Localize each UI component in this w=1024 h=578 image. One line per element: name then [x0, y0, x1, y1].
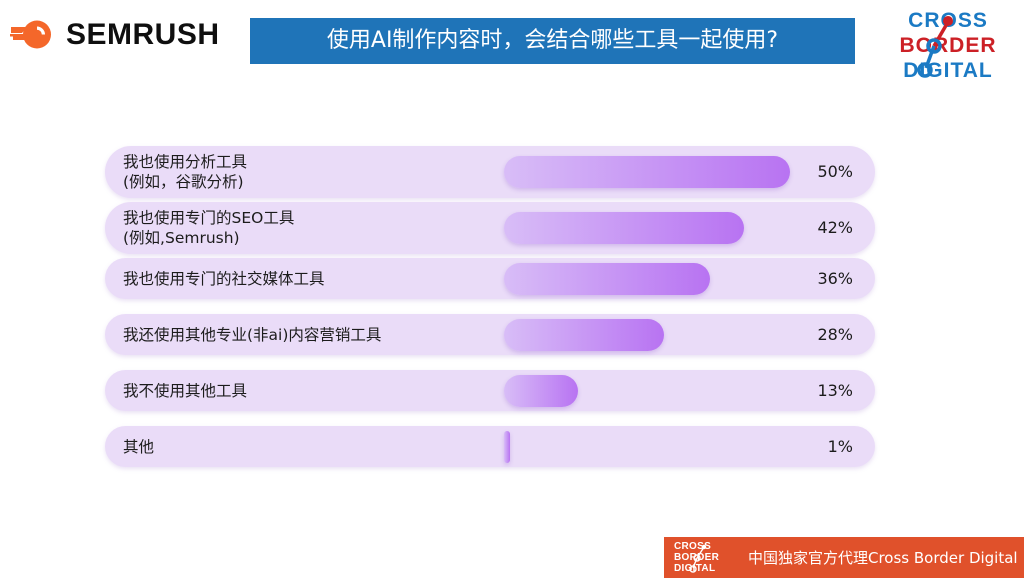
semrush-logo: SEMRUSH	[10, 18, 220, 52]
chart-row-value: 28%	[817, 327, 853, 343]
chart-row-value: 13%	[817, 383, 853, 399]
bar-fill	[504, 212, 744, 244]
footer-cbd-logo: CROSS BORDER DIGITAL	[674, 541, 736, 575]
chart-row: 我不使用其他工具13%	[105, 370, 875, 411]
chart-row-label: 我不使用其他工具	[123, 381, 247, 401]
chart-row-label: 我也使用专门的SEO工具 (例如,Semrush)	[123, 208, 294, 248]
page-header: SEMRUSH 使用AI制作内容时，会结合哪些工具一起使用? CROSS BOR…	[0, 0, 1024, 100]
cross-border-digital-logo: CROSS BORDER DIGITAL	[888, 8, 1008, 90]
footer-logo-connector-icon	[674, 541, 736, 575]
bar-fill	[504, 375, 578, 407]
bar-fill	[504, 319, 664, 351]
bar-fill	[504, 156, 790, 188]
chart-row-value: 42%	[817, 220, 853, 236]
bar-track	[504, 319, 790, 351]
chart-row-value: 1%	[828, 439, 853, 455]
semrush-comet-icon	[10, 18, 56, 52]
chart-row: 我也使用专门的社交媒体工具36%	[105, 258, 875, 299]
bar-track	[504, 431, 790, 463]
logo-line-border: BORDER	[888, 33, 1008, 58]
title-banner: 使用AI制作内容时，会结合哪些工具一起使用?	[250, 18, 855, 64]
chart-row-label: 我还使用其他专业(非ai)内容营销工具	[123, 325, 381, 345]
bar-track	[504, 375, 790, 407]
bar-fill	[504, 263, 710, 295]
horizontal-bar-chart: 我也使用分析工具 (例如，谷歌分析)50%我也使用专门的SEO工具 (例如,Se…	[105, 146, 875, 466]
footer-text: 中国独家官方代理Cross Border Digital	[748, 547, 1018, 568]
logo-line-cross: CROSS	[888, 8, 1008, 33]
chart-row: 我也使用分析工具 (例如，谷歌分析)50%	[105, 146, 875, 198]
chart-row-value: 36%	[817, 271, 853, 287]
chart-row: 我也使用专门的SEO工具 (例如,Semrush)42%	[105, 202, 875, 254]
bar-track	[504, 156, 790, 188]
chart-row: 我还使用其他专业(非ai)内容营销工具28%	[105, 314, 875, 355]
chart-row: 其他1%	[105, 426, 875, 467]
bar-fill	[504, 431, 510, 463]
footer-bar: CROSS BORDER DIGITAL 中国独家官方代理Cross Borde…	[664, 537, 1024, 578]
semrush-wordmark: SEMRUSH	[66, 20, 220, 50]
page-title: 使用AI制作内容时，会结合哪些工具一起使用?	[327, 30, 778, 52]
bar-track	[504, 263, 790, 295]
chart-row-label: 我也使用分析工具 (例如，谷歌分析)	[123, 152, 247, 192]
chart-row-label: 其他	[123, 437, 154, 457]
bar-track	[504, 212, 790, 244]
logo-line-digital: DIGITAL	[888, 58, 1008, 83]
chart-row-label: 我也使用专门的社交媒体工具	[123, 269, 325, 289]
chart-row-value: 50%	[817, 164, 853, 180]
